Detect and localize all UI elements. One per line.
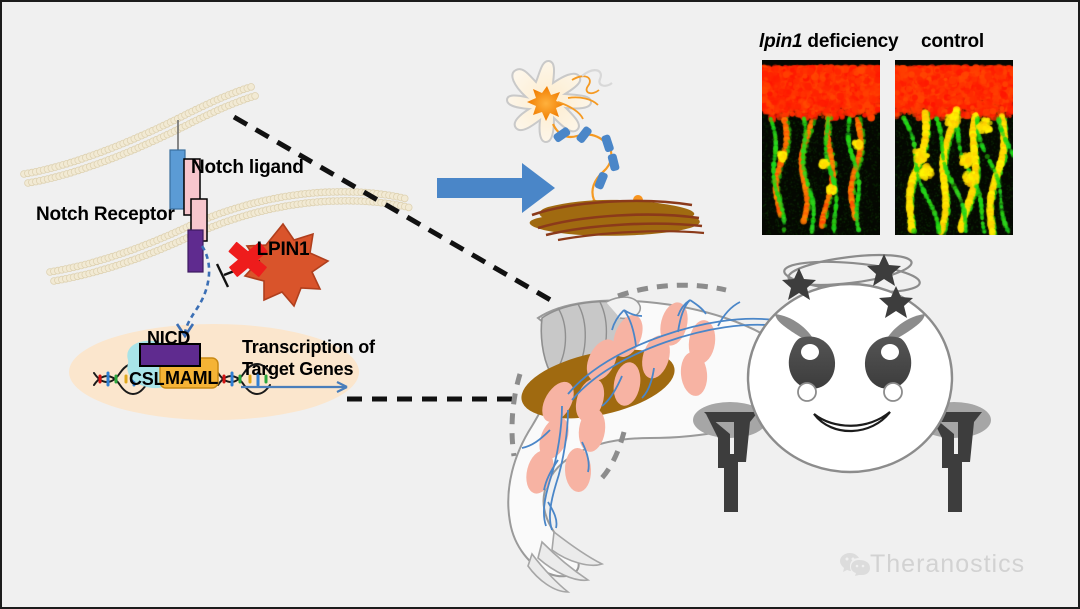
notch-ligand-receptor-complex [170, 120, 207, 272]
label-panel-control: control [921, 31, 984, 53]
notch-ligand-bar [170, 150, 185, 209]
blue-process-arrow [437, 163, 555, 213]
confocal-panel-lpin1-deficiency [762, 60, 880, 235]
gene-name-italic: lpin1 [759, 31, 802, 52]
transcription-line-1: Transcription of [242, 336, 375, 358]
lower-cell-membrane [47, 188, 413, 284]
label-panel-lpin1-deficiency: lpin1 deficiency [759, 31, 898, 53]
myelin-segments [552, 125, 620, 190]
crutch-left [693, 402, 767, 512]
tear-right [884, 383, 902, 401]
label-lpin1: LPIN1 [257, 239, 310, 261]
label-nicd: NICD [147, 328, 190, 349]
label-notch-receptor: Notch Receptor [36, 204, 175, 226]
label-maml: MAML [165, 368, 218, 389]
label-csl: CSL [129, 369, 164, 390]
panel-a-label-rest: deficiency [802, 31, 898, 52]
face-circle [748, 284, 952, 472]
muscle-fiber-cell [530, 200, 704, 240]
tear-left [798, 383, 816, 401]
receptor-nicd-domain [188, 230, 203, 272]
wechat-icon [840, 553, 870, 576]
label-transcription-target-genes: Transcription of Target Genes [242, 336, 375, 380]
watermark-text: Theranostics [870, 550, 1025, 579]
figure-canvas: Notch ligand Notch Receptor LPIN1 NICD C… [0, 0, 1080, 609]
zebrafish-larva [508, 285, 797, 592]
transcription-line-2: Target Genes [242, 358, 375, 380]
confocal-panel-control [895, 60, 1013, 235]
label-notch-ligand: Notch ligand [191, 157, 304, 179]
